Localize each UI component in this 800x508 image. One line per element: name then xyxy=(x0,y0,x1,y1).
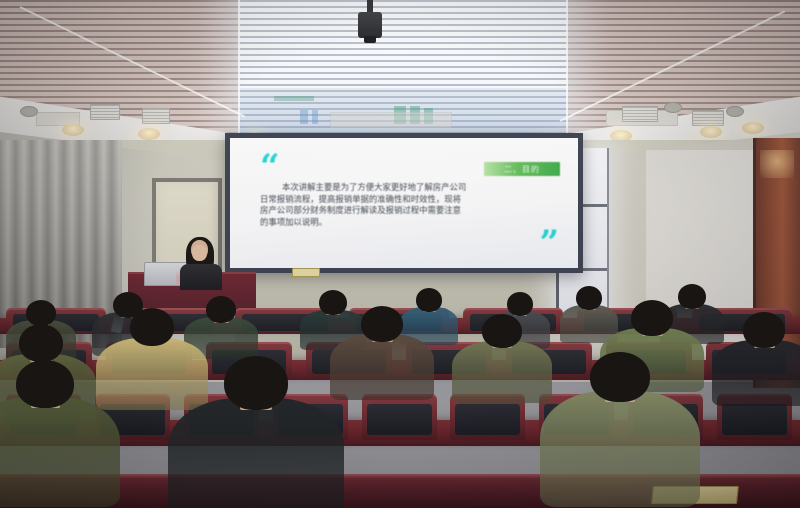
attendee-torso xyxy=(540,391,700,507)
attendee-head xyxy=(482,314,522,348)
projector-lens xyxy=(364,36,376,43)
reflection-block xyxy=(312,110,318,124)
air-vent xyxy=(142,108,170,124)
attendee-torso xyxy=(0,397,120,507)
conference-room-scene: “ 二、目的 本次讲解主要是为了方便大家更好地了解房产公司 日常报销流程，提高报… xyxy=(0,0,800,508)
air-vent xyxy=(90,104,120,120)
reflection-block xyxy=(274,96,314,101)
attendee-head xyxy=(631,300,673,336)
presenter-jacket xyxy=(180,264,222,290)
attendee-head xyxy=(224,356,288,410)
projection-screen-frame: “ 二、目的 本次讲解主要是为了方便大家更好地了解房产公司 日常报销流程，提高报… xyxy=(225,133,583,273)
ceiling-projector xyxy=(358,0,382,48)
ceiling-seam xyxy=(238,0,240,150)
attendee-head xyxy=(743,312,785,348)
downlight xyxy=(62,124,84,136)
ceiling-speaker xyxy=(664,102,682,113)
projection-screen: “ 二、目的 本次讲解主要是为了方便大家更好地了解房产公司 日常报销流程，提高报… xyxy=(230,138,578,268)
downlight xyxy=(138,128,160,140)
attendee-head xyxy=(19,324,63,362)
attendee-head xyxy=(507,292,533,316)
attendee-r3-a xyxy=(0,360,120,508)
ceiling-seam xyxy=(238,86,568,88)
slide-line-4: 的事项加以说明。 xyxy=(260,217,548,229)
ceiling-seam xyxy=(566,0,568,150)
air-vent xyxy=(692,110,724,126)
seat-cushion xyxy=(367,404,432,435)
attendee-torso xyxy=(712,340,800,406)
attendee-head xyxy=(16,360,74,408)
projector-body xyxy=(358,12,382,38)
presenter xyxy=(178,240,224,286)
paper-on-desk[interactable] xyxy=(292,268,320,277)
attendee-torso xyxy=(452,341,552,403)
attendee-r2-d xyxy=(452,314,552,410)
presenter-face xyxy=(192,245,207,261)
ceiling-speaker xyxy=(726,106,744,117)
air-vent xyxy=(622,106,658,122)
reflection-block xyxy=(300,110,308,124)
attendee-torso xyxy=(330,334,434,400)
downlight xyxy=(700,126,722,138)
attendee-torso xyxy=(168,398,344,508)
downlight xyxy=(742,122,764,134)
attendee-head xyxy=(590,352,650,402)
attendee-r3-c xyxy=(540,352,700,508)
ceiling-tile xyxy=(330,112,452,128)
slide-line-1: 本次讲解主要是为了方便大家更好地了解房产公司 xyxy=(260,182,548,194)
ceiling-speaker xyxy=(20,106,38,117)
slide-line-3: 房产公司部分财务制度进行解读及报销过程中需要注意 xyxy=(260,205,548,217)
slide-line-2: 日常报销流程，提高报销单据的准确性和时效性，现将 xyxy=(260,194,548,206)
attendee-head xyxy=(26,300,56,326)
panel-highlight xyxy=(760,150,794,178)
slide-section-badge: 二、目的 xyxy=(484,162,560,176)
attendee-head xyxy=(576,286,602,310)
slide-body-text: 本次讲解主要是为了方便大家更好地了解房产公司 日常报销流程，提高报销单据的准确性… xyxy=(260,182,548,228)
open-quote-mark: “ xyxy=(260,150,277,184)
close-quote-mark: ” xyxy=(539,226,556,260)
attendee-head xyxy=(130,308,174,346)
attendee-r2-f xyxy=(712,312,800,414)
attendee-r2-c xyxy=(330,306,434,408)
attendee-head xyxy=(361,306,403,342)
attendee-head xyxy=(206,296,236,323)
attendee-r3-b xyxy=(168,356,344,508)
